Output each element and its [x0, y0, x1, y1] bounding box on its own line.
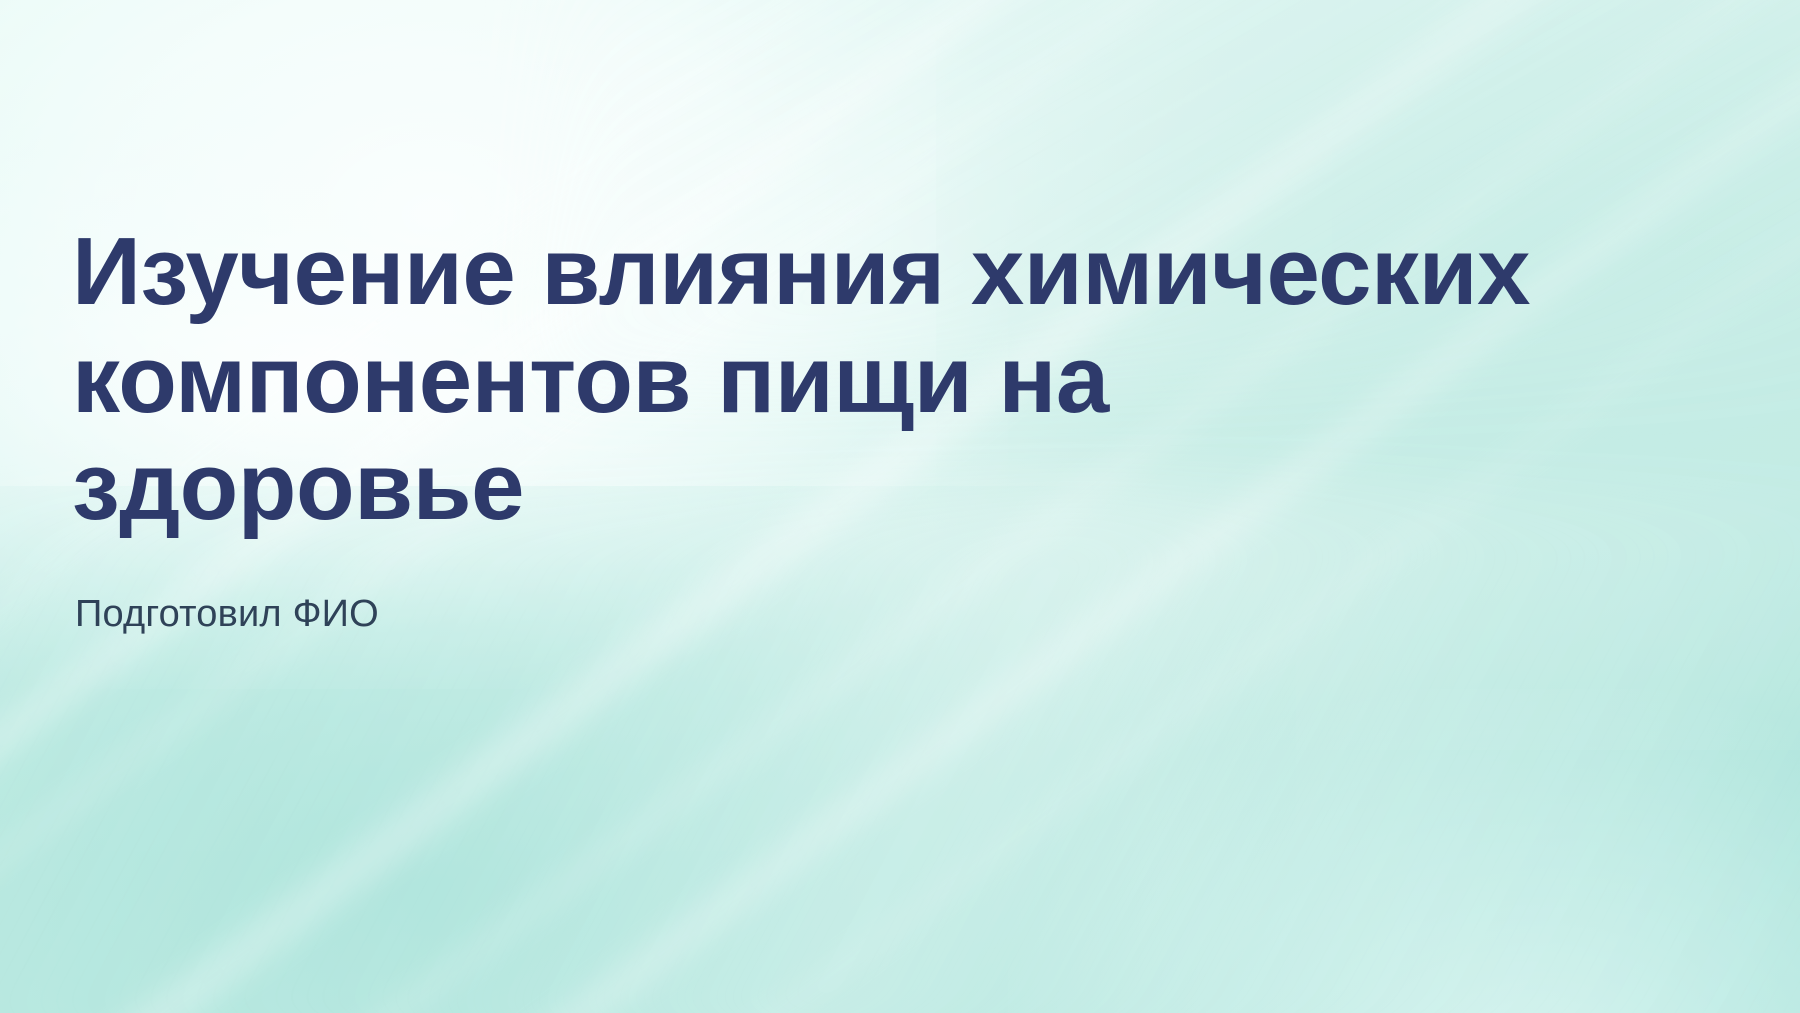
title-slide: Изучение влияния химических компонентов … [0, 0, 1800, 1013]
slide-subtitle-author: Подготовил ФИО [75, 592, 379, 638]
slide-title: Изучение влияния химических компонентов … [72, 218, 1572, 541]
slide-content: Изучение влияния химических компонентов … [72, 0, 1632, 1013]
